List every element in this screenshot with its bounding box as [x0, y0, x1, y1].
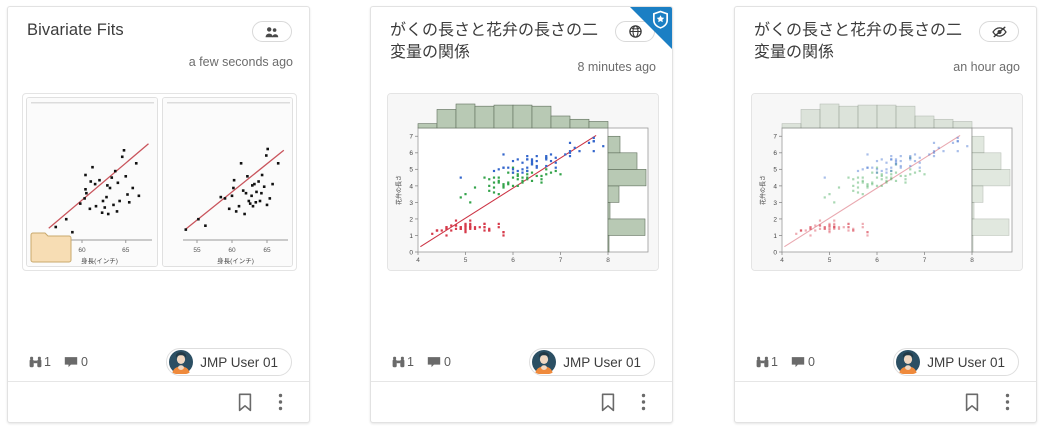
- svg-text:7: 7: [409, 134, 413, 141]
- svg-text:55: 55: [193, 247, 201, 254]
- avatar: [169, 350, 193, 374]
- bookmark-button[interactable]: [959, 389, 985, 415]
- eye-off-icon: [992, 26, 1007, 38]
- svg-text:5: 5: [409, 167, 413, 174]
- svg-text:7: 7: [559, 257, 563, 264]
- card-timestamp: an hour ago: [953, 60, 1020, 74]
- more-options-button[interactable]: [994, 389, 1020, 415]
- owner-name: JMP User 01: [927, 355, 1005, 370]
- card-title: Bivariate Fits: [27, 20, 249, 41]
- owner-chip[interactable]: JMP User 01: [529, 348, 655, 376]
- card-title: がくの長さと花弁の長さの二 変量の関係: [754, 20, 976, 64]
- card-thumbnail[interactable]: 6065身長(インチ)556065身長(インチ): [22, 93, 297, 271]
- svg-text:6: 6: [409, 150, 413, 157]
- avatar: [532, 350, 556, 374]
- card-stats: 10JMP User 01: [735, 341, 1036, 383]
- views-stat: 1: [755, 355, 778, 369]
- card-title: がくの長さと花弁の長さの二 変量の関係: [390, 20, 612, 64]
- comments-count: 0: [808, 355, 815, 369]
- svg-text:65: 65: [122, 247, 130, 254]
- svg-text:2: 2: [773, 216, 777, 223]
- svg-text:2: 2: [409, 216, 413, 223]
- comments-stat: 0: [64, 355, 88, 369]
- svg-text:65: 65: [263, 247, 271, 254]
- comments-count: 0: [444, 355, 451, 369]
- visibility-button[interactable]: [252, 21, 292, 42]
- comments-stat: 0: [427, 355, 451, 369]
- svg-text:4: 4: [409, 183, 413, 190]
- chart-panel: 0123456745678花弁の長さ: [752, 94, 1022, 270]
- binoculars-icon: [28, 356, 42, 369]
- svg-text:身長(インチ): 身長(インチ): [217, 256, 254, 265]
- card-actions: [735, 381, 1036, 422]
- svg-text:1: 1: [773, 233, 777, 240]
- views-count: 1: [771, 355, 778, 369]
- svg-text:5: 5: [828, 257, 832, 264]
- avatar: [896, 350, 920, 374]
- card-thumbnail[interactable]: 0123456745678花弁の長さ: [751, 93, 1023, 271]
- svg-text:6: 6: [511, 257, 515, 264]
- binoculars-icon: [391, 356, 405, 369]
- comment-bubble-icon: [427, 356, 442, 369]
- svg-text:3: 3: [773, 200, 777, 207]
- svg-text:6: 6: [875, 257, 879, 264]
- card-stats: 10JMP User 01: [8, 341, 309, 383]
- card-thumbnail[interactable]: 0123456745678花弁の長さ: [387, 93, 659, 271]
- svg-text:3: 3: [409, 200, 413, 207]
- svg-text:4: 4: [416, 257, 420, 264]
- card-header: がくの長さと花弁の長さの二 変量の関係an hour ago: [735, 7, 1036, 83]
- chart-panel-right: 556065身長(インチ): [162, 97, 294, 267]
- svg-text:0: 0: [773, 249, 777, 256]
- card-stats: 10JMP User 01: [371, 341, 672, 383]
- bookmark-button[interactable]: [232, 389, 258, 415]
- dashboard-card[interactable]: がくの長さと花弁の長さの二 変量の関係8 minutes ago01234567…: [370, 6, 673, 423]
- binoculars-icon: [755, 356, 769, 369]
- card-actions: [8, 381, 309, 422]
- views-count: 1: [44, 355, 51, 369]
- views-count: 1: [407, 355, 414, 369]
- comments-count: 0: [81, 355, 88, 369]
- views-stat: 1: [391, 355, 414, 369]
- svg-text:花弁の長さ: 花弁の長さ: [395, 175, 403, 205]
- more-options-button[interactable]: [267, 389, 293, 415]
- svg-text:4: 4: [780, 257, 784, 264]
- svg-text:花弁の長さ: 花弁の長さ: [759, 175, 767, 205]
- owner-name: JMP User 01: [563, 355, 641, 370]
- svg-text:7: 7: [773, 134, 777, 141]
- people-group-icon: [265, 26, 279, 38]
- svg-text:4: 4: [773, 183, 777, 190]
- dashboard-card[interactable]: がくの長さと花弁の長さの二 変量の関係an hour ago0123456745…: [734, 6, 1037, 423]
- bookmark-button[interactable]: [595, 389, 621, 415]
- svg-text:身長(インチ): 身長(インチ): [81, 256, 118, 265]
- svg-text:60: 60: [78, 247, 86, 254]
- chart-panel: 0123456745678花弁の長さ: [388, 94, 658, 270]
- card-header: Bivariate Fitsa few seconds ago: [8, 7, 309, 83]
- svg-text:1: 1: [409, 233, 413, 240]
- owner-name: JMP User 01: [200, 355, 278, 370]
- comment-bubble-icon: [791, 356, 806, 369]
- svg-text:0: 0: [409, 249, 413, 256]
- shield-star-icon: [652, 10, 669, 29]
- owner-chip[interactable]: JMP User 01: [893, 348, 1019, 376]
- visibility-button[interactable]: [979, 21, 1019, 42]
- folder-icon[interactable]: [29, 228, 73, 266]
- card-timestamp: 8 minutes ago: [577, 60, 656, 74]
- dashboard-card[interactable]: Bivariate Fitsa few seconds ago6065身長(イン…: [7, 6, 310, 423]
- card-header: がくの長さと花弁の長さの二 変量の関係8 minutes ago: [371, 7, 672, 83]
- owner-chip[interactable]: JMP User 01: [166, 348, 292, 376]
- svg-text:6: 6: [773, 150, 777, 157]
- svg-text:8: 8: [970, 257, 974, 264]
- svg-text:5: 5: [464, 257, 468, 264]
- views-stat: 1: [28, 355, 51, 369]
- svg-text:7: 7: [923, 257, 927, 264]
- card-board: Bivariate Fitsa few seconds ago6065身長(イン…: [0, 0, 1045, 434]
- card-timestamp: a few seconds ago: [189, 55, 293, 69]
- card-actions: [371, 381, 672, 422]
- svg-text:8: 8: [606, 257, 610, 264]
- comments-stat: 0: [791, 355, 815, 369]
- svg-text:60: 60: [228, 247, 236, 254]
- more-options-button[interactable]: [630, 389, 656, 415]
- svg-text:5: 5: [773, 167, 777, 174]
- comment-bubble-icon: [64, 356, 79, 369]
